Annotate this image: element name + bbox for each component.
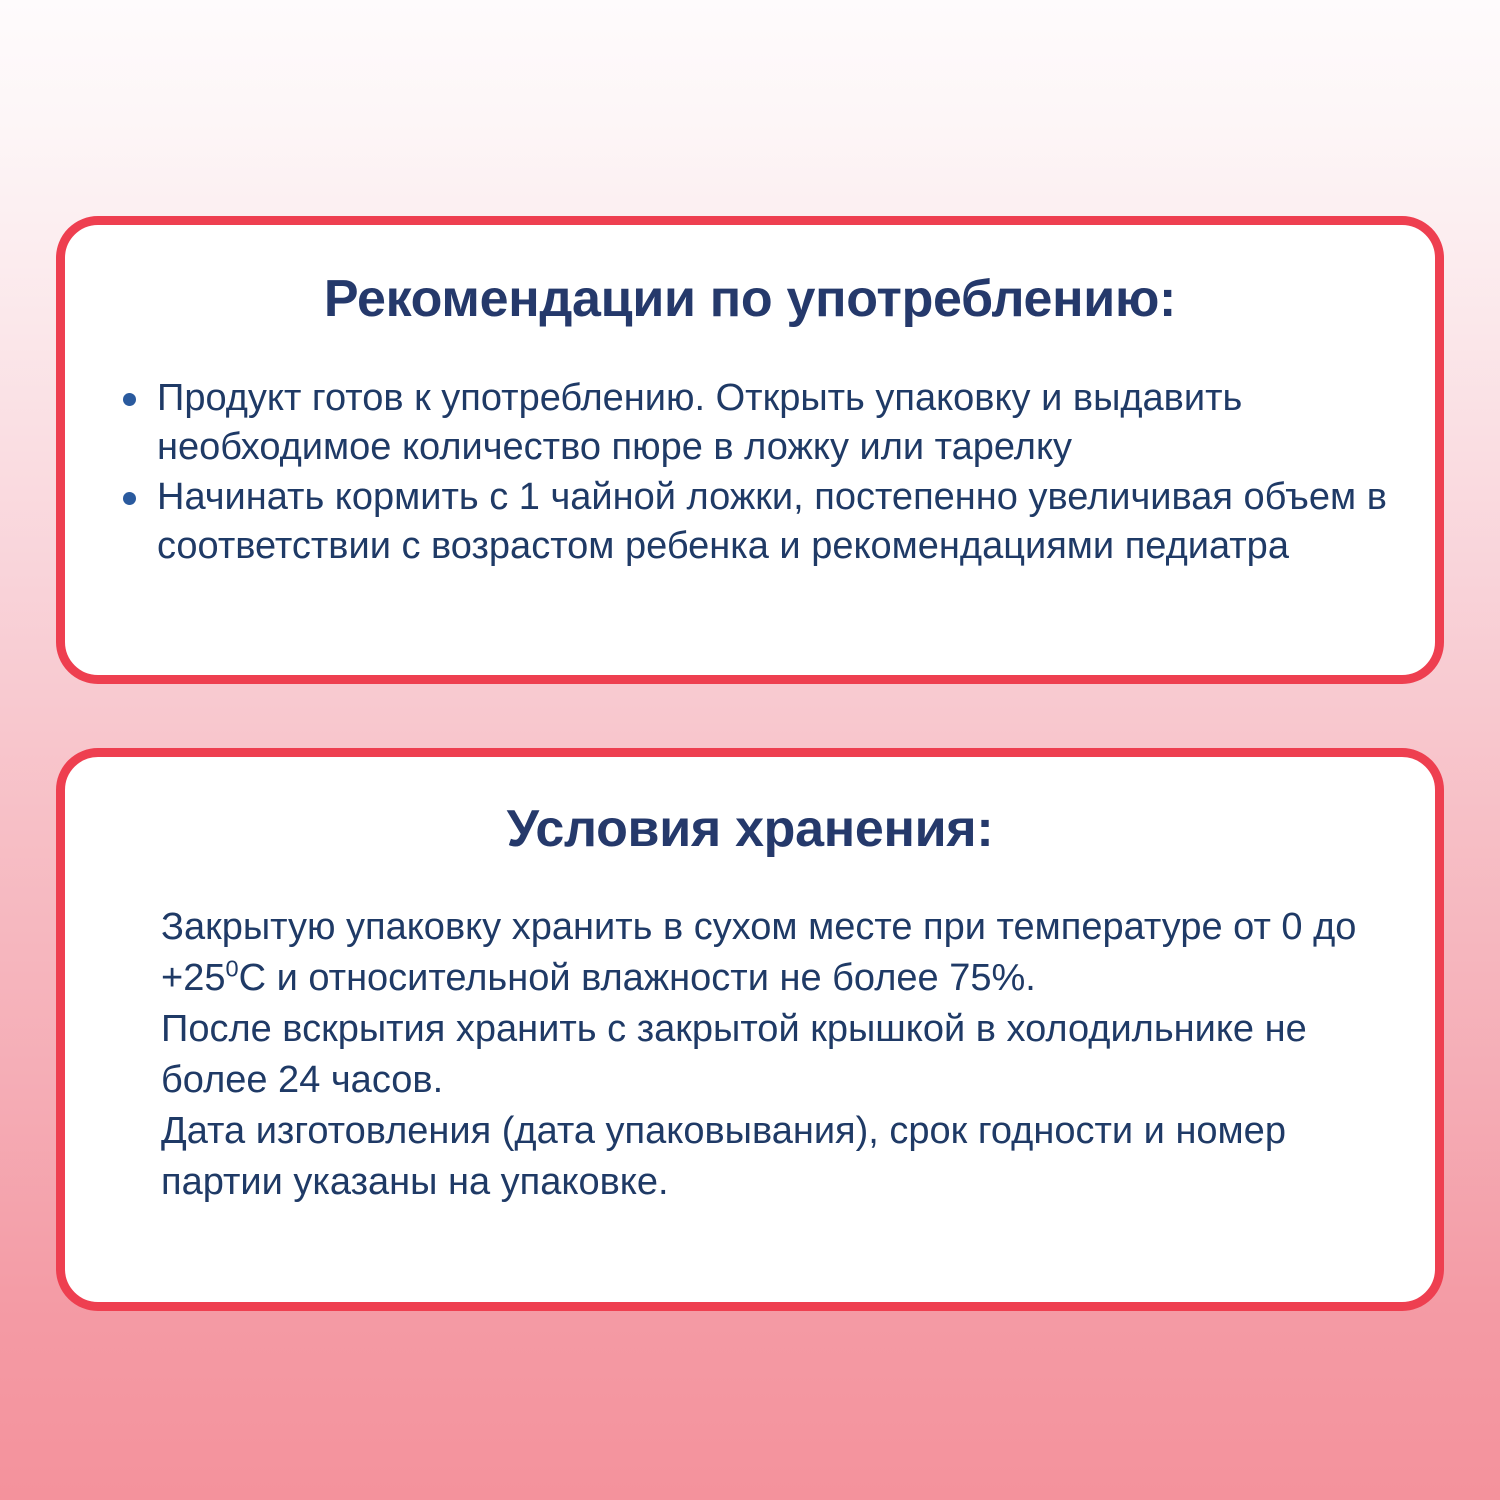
degree-superscript: 0 — [225, 955, 238, 981]
storage-paragraph-date-info: Дата изготовления (дата упаковывания), с… — [161, 1106, 1379, 1208]
bullet-dot-icon — [123, 492, 136, 505]
usage-recommendations-card: Рекомендации по употреблению: Продукт го… — [56, 216, 1444, 684]
storage-body: Закрытую упаковку хранить в сухом месте … — [65, 902, 1435, 1207]
list-item-text: Продукт готов к употреблению. Открыть уп… — [157, 377, 1242, 468]
storage-temp-text-after: С и относительной влажности не более 75%… — [239, 957, 1036, 999]
usage-card-heading: Рекомендации по употреблению: — [65, 271, 1435, 328]
storage-card-heading: Условия хранения: — [65, 801, 1435, 858]
product-info-page: Рекомендации по употреблению: Продукт го… — [0, 0, 1500, 1500]
usage-bullet-list: Продукт готов к употреблению. Открыть уп… — [65, 374, 1435, 571]
storage-paragraph-after-opening: После вскрытия хранить с закрытой крышко… — [161, 1004, 1379, 1106]
bullet-dot-icon — [123, 393, 136, 406]
list-item: Начинать кормить с 1 чайной ложки, посте… — [117, 473, 1389, 570]
storage-paragraph-temperature: Закрытую упаковку хранить в сухом месте … — [161, 902, 1379, 1004]
storage-conditions-card: Условия хранения: Закрытую упаковку хран… — [56, 748, 1444, 1311]
list-item-text: Начинать кормить с 1 чайной ложки, посте… — [157, 476, 1387, 567]
list-item: Продукт готов к употреблению. Открыть уп… — [117, 374, 1389, 471]
